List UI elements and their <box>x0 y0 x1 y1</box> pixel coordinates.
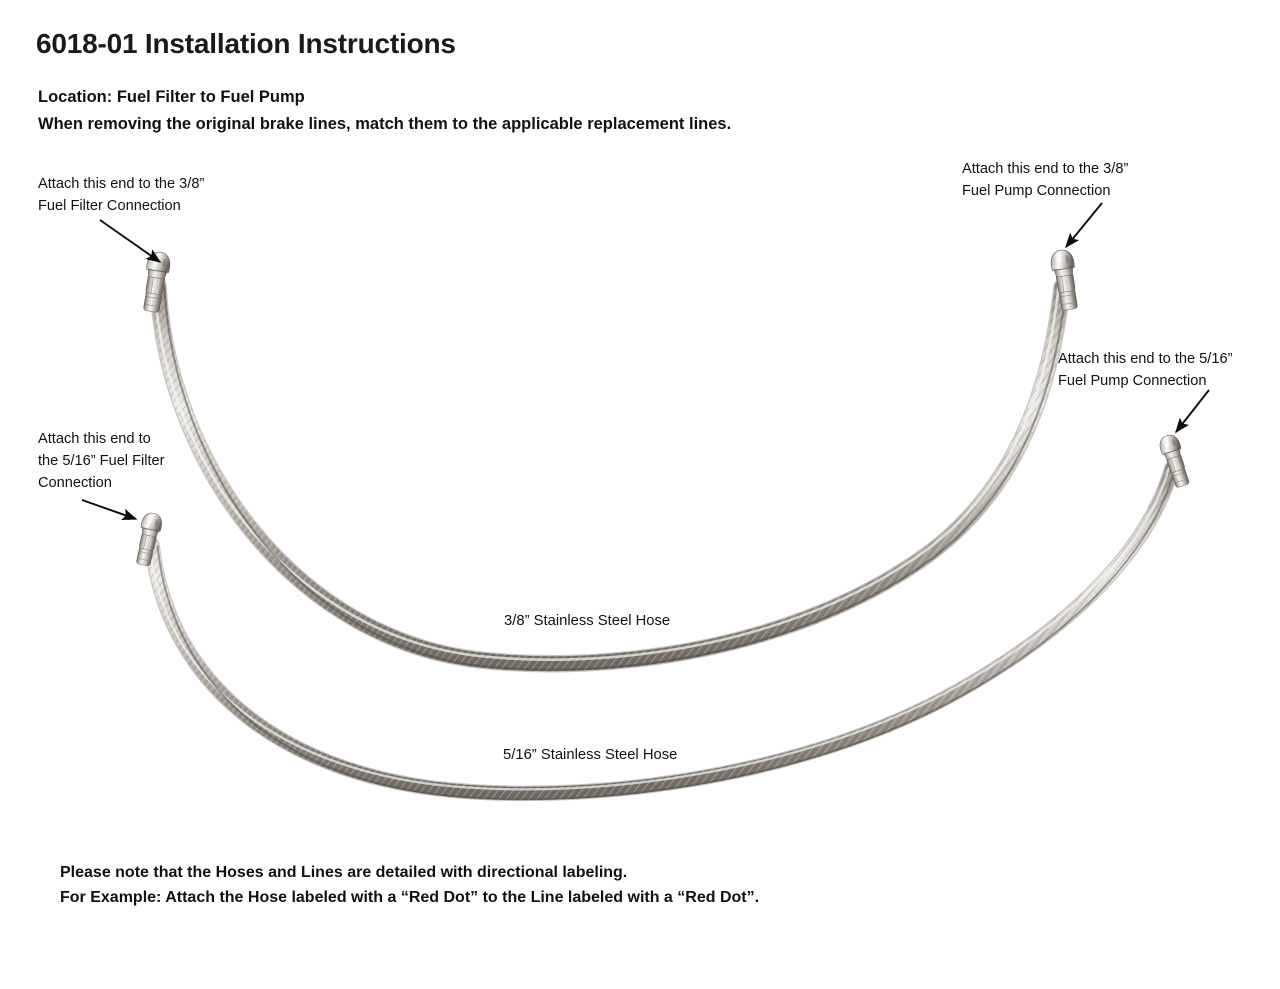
footer-note-line-2: For Example: Attach the Hose labeled wit… <box>60 889 759 907</box>
intro-matching-line: When removing the original brake lines, … <box>38 115 731 134</box>
hose-38-braid-weave-cross <box>158 286 1062 664</box>
lower-left-fitting <box>133 511 164 567</box>
upper-left-fitting <box>140 250 172 313</box>
hose-516-body <box>152 468 1172 793</box>
lower-right-fitting <box>1157 432 1192 488</box>
callout-label-fuel-filter-38: Attach this end to the 3/8” Fuel Filter … <box>38 173 204 217</box>
callout-arrow-fuel-pump-38 <box>1066 203 1102 247</box>
installation-instructions-page: 6018-01 Installation Instructions Locati… <box>0 0 1280 989</box>
hose-38-braid-weave <box>158 286 1062 664</box>
hose-516-braid-weave <box>152 468 1172 793</box>
callout-arrow-fuel-filter-38 <box>100 220 160 262</box>
hose-label-38: 3/8” Stainless Steel Hose <box>504 613 670 629</box>
page-title: 6018-01 Installation Instructions <box>36 28 456 60</box>
callout-arrow-fuel-filter-516 <box>82 500 136 519</box>
hose-label-516: 5/16” Stainless Steel Hose <box>503 747 677 763</box>
intro-location-line: Location: Fuel Filter to Fuel Pump <box>38 88 305 107</box>
callout-arrow-fuel-pump-516 <box>1176 390 1209 432</box>
footer-note-line-1: Please note that the Hoses and Lines are… <box>60 864 627 882</box>
hose-diagram <box>0 0 1280 989</box>
callout-label-fuel-pump-38: Attach this end to the 3/8” Fuel Pump Co… <box>962 158 1128 202</box>
upper-right-fitting <box>1049 248 1081 311</box>
callout-label-fuel-filter-516: Attach this end to the 5/16” Fuel Filter… <box>38 428 165 494</box>
hose-38-shadow <box>158 286 1062 664</box>
callout-label-fuel-pump-516: Attach this end to the 5/16” Fuel Pump C… <box>1058 348 1232 392</box>
hose-516-shadow <box>152 468 1172 793</box>
hose-38-body <box>158 286 1062 664</box>
hose-38-specular <box>155 286 1059 660</box>
hose-516-braid-weave-cross <box>152 468 1172 793</box>
